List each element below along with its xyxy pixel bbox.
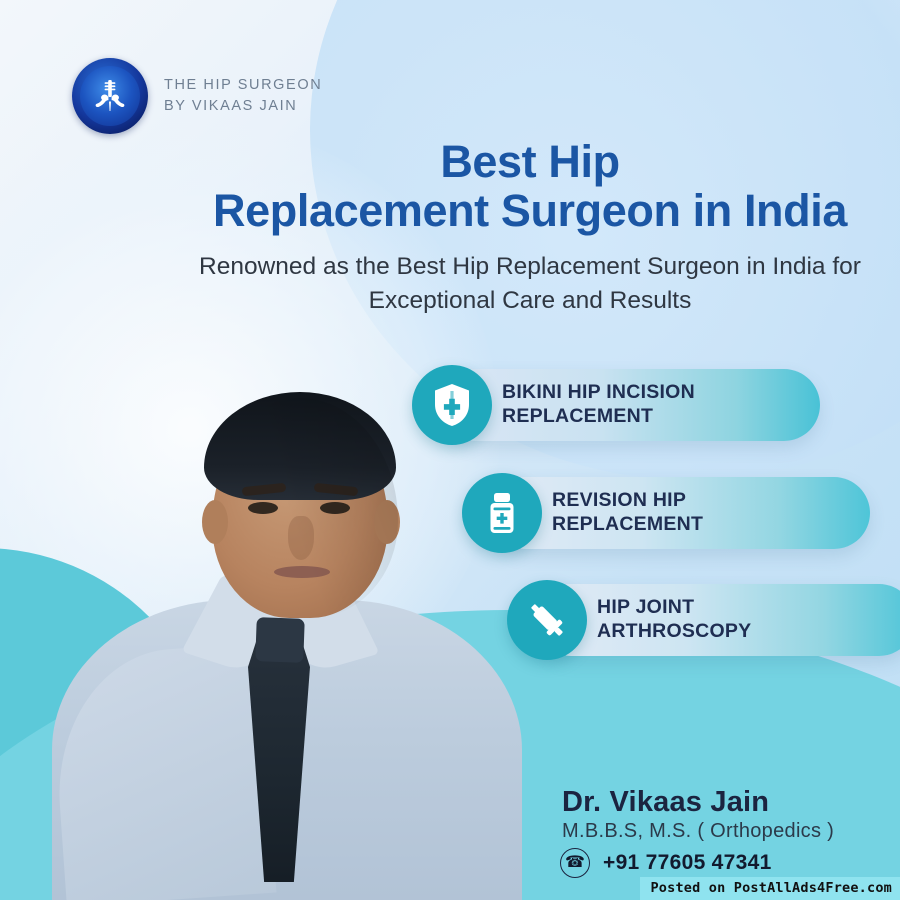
hip-pelvis-bone-logo-icon	[72, 58, 148, 134]
headline: Best Hip Replacement Surgeon in India	[180, 138, 880, 235]
doctor-degrees: M.B.B.S, M.S. ( Orthopedics )	[562, 820, 834, 843]
portrait-necktie-knot	[255, 617, 305, 663]
service-pill-hip-joint-arthroscopy[interactable]: HIP JOINT ARTHROSCOPY	[535, 584, 900, 656]
doctor-portrait	[52, 380, 522, 900]
service-label: HIP JOINT ARTHROSCOPY	[597, 596, 751, 644]
phone-row[interactable]: ☎ +91 77605 47341	[560, 848, 772, 878]
brand-line-2: BY VIKAAS JAIN	[164, 96, 322, 117]
doctor-name: Dr. Vikaas Jain	[562, 786, 769, 819]
telephone-icon: ☎	[560, 848, 590, 878]
brand-wordmark: THE HIP SURGEON BY VIKAAS JAIN	[164, 75, 322, 117]
service-label: BIKINI HIP INCISION REPLACEMENT	[502, 381, 695, 429]
brand-logo: THE HIP SURGEON BY VIKAAS JAIN	[72, 58, 322, 134]
watermark: Posted on PostAllAds4Free.com	[640, 877, 900, 900]
service-label: REVISION HIP REPLACEMENT	[552, 489, 703, 537]
subheadline: Renowned as the Best Hip Replacement Sur…	[180, 250, 880, 318]
service-pill-revision-hip-replacement[interactable]: REVISION HIP REPLACEMENT	[490, 477, 870, 549]
brand-line-1: THE HIP SURGEON	[164, 75, 322, 96]
phone-number[interactable]: +91 77605 47341	[603, 851, 772, 875]
poster-canvas: THE HIP SURGEON BY VIKAAS JAIN Best Hip …	[0, 0, 900, 900]
